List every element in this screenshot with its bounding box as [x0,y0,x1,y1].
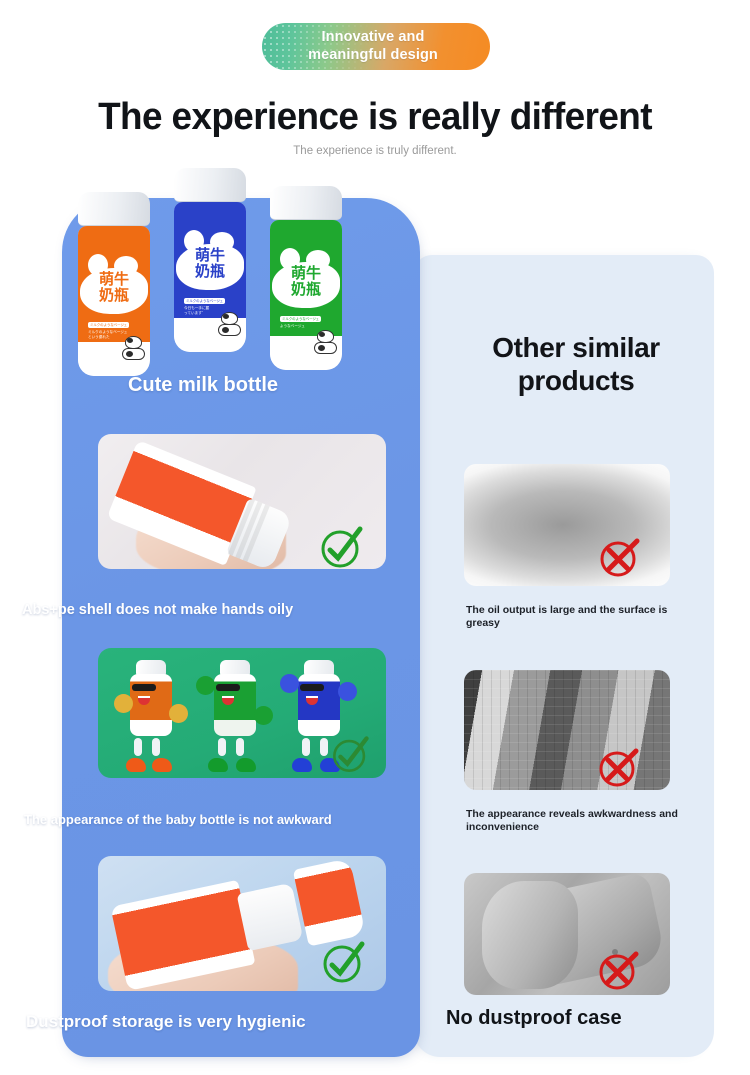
mascot-orange [122,660,180,772]
other-products-title: Other similar products [438,331,714,397]
cow-mascot-icon [217,312,243,336]
bottle-cap [78,192,150,226]
bottle-blue: 萌牛奶瓶 ミルクのようなベージュ 今日も一手に握っています゛ [174,168,246,352]
bottle-cn-label: 萌牛奶瓶 [174,248,246,280]
competitor-caption-3: No dustproof case [446,1012,716,1025]
cross-icon [597,535,643,581]
bottle-cn-label: 萌牛奶瓶 [78,272,150,304]
promo-page: Innovative and meaningful design The exp… [0,0,750,1075]
bottle-microcopy: ミルクのようなベージュ ようなベージュ [280,316,321,329]
cross-icon [596,745,642,791]
feature-caption-2: The appearance of the baby bottle is not… [0,812,358,827]
bottle-cn-label: 萌牛奶瓶 [270,266,342,298]
check-icon [320,940,366,986]
check-icon [318,525,364,571]
hero-caption: Cute milk bottle [0,374,358,397]
competitor-caption-2: The appearance reveals awkwardness and i… [466,808,688,834]
bottle-body: 萌牛奶瓶 ミルクのようなベージュ ようなベージュ [270,220,342,370]
page-subtitle: The experience is truly different. [0,145,750,157]
check-icon [330,735,370,775]
bottle-body: 萌牛奶瓶 ミルクのようなベージュ 今日も一手に握っています゛ [174,202,246,352]
competitor-caption-1: The oil output is large and the surface … [466,604,688,630]
mascot-green [206,660,264,772]
hero-bottle-group: 萌牛奶瓶 ミルクのようなベージュ ミルクのようなベージュという優れた [70,160,370,365]
cow-mascot-icon [121,336,147,360]
bottle-green: 萌牛奶瓶 ミルクのようなベージュ ようなベージュ [270,186,342,370]
bottle-body: 萌牛奶瓶 ミルクのようなベージュ ミルクのようなベージュという優れた [78,226,150,376]
badge-line-2: meaningful design [262,46,484,64]
other-products-title-line-1: Other similar [438,331,714,364]
bottle-orange: 萌牛奶瓶 ミルクのようなベージュ ミルクのようなベージュという優れた [78,192,150,376]
cross-icon [596,948,642,994]
page-title: The experience is really different [11,96,739,139]
other-products-title-line-2: products [438,364,714,397]
cow-mascot-icon [313,330,339,354]
thumb-graphic [482,881,578,989]
bottle-cap [174,168,246,202]
feature-caption-3: Dustproof storage is very hygienic [0,1012,358,1032]
badge-text: Innovative and meaningful design [262,28,484,64]
badge-innovative-design: Innovative and meaningful design [262,23,490,70]
badge-line-1: Innovative and [262,28,484,46]
bottle-cap [270,186,342,220]
feature-caption-1: Abs+pe shell does not make hands oily [0,602,358,618]
